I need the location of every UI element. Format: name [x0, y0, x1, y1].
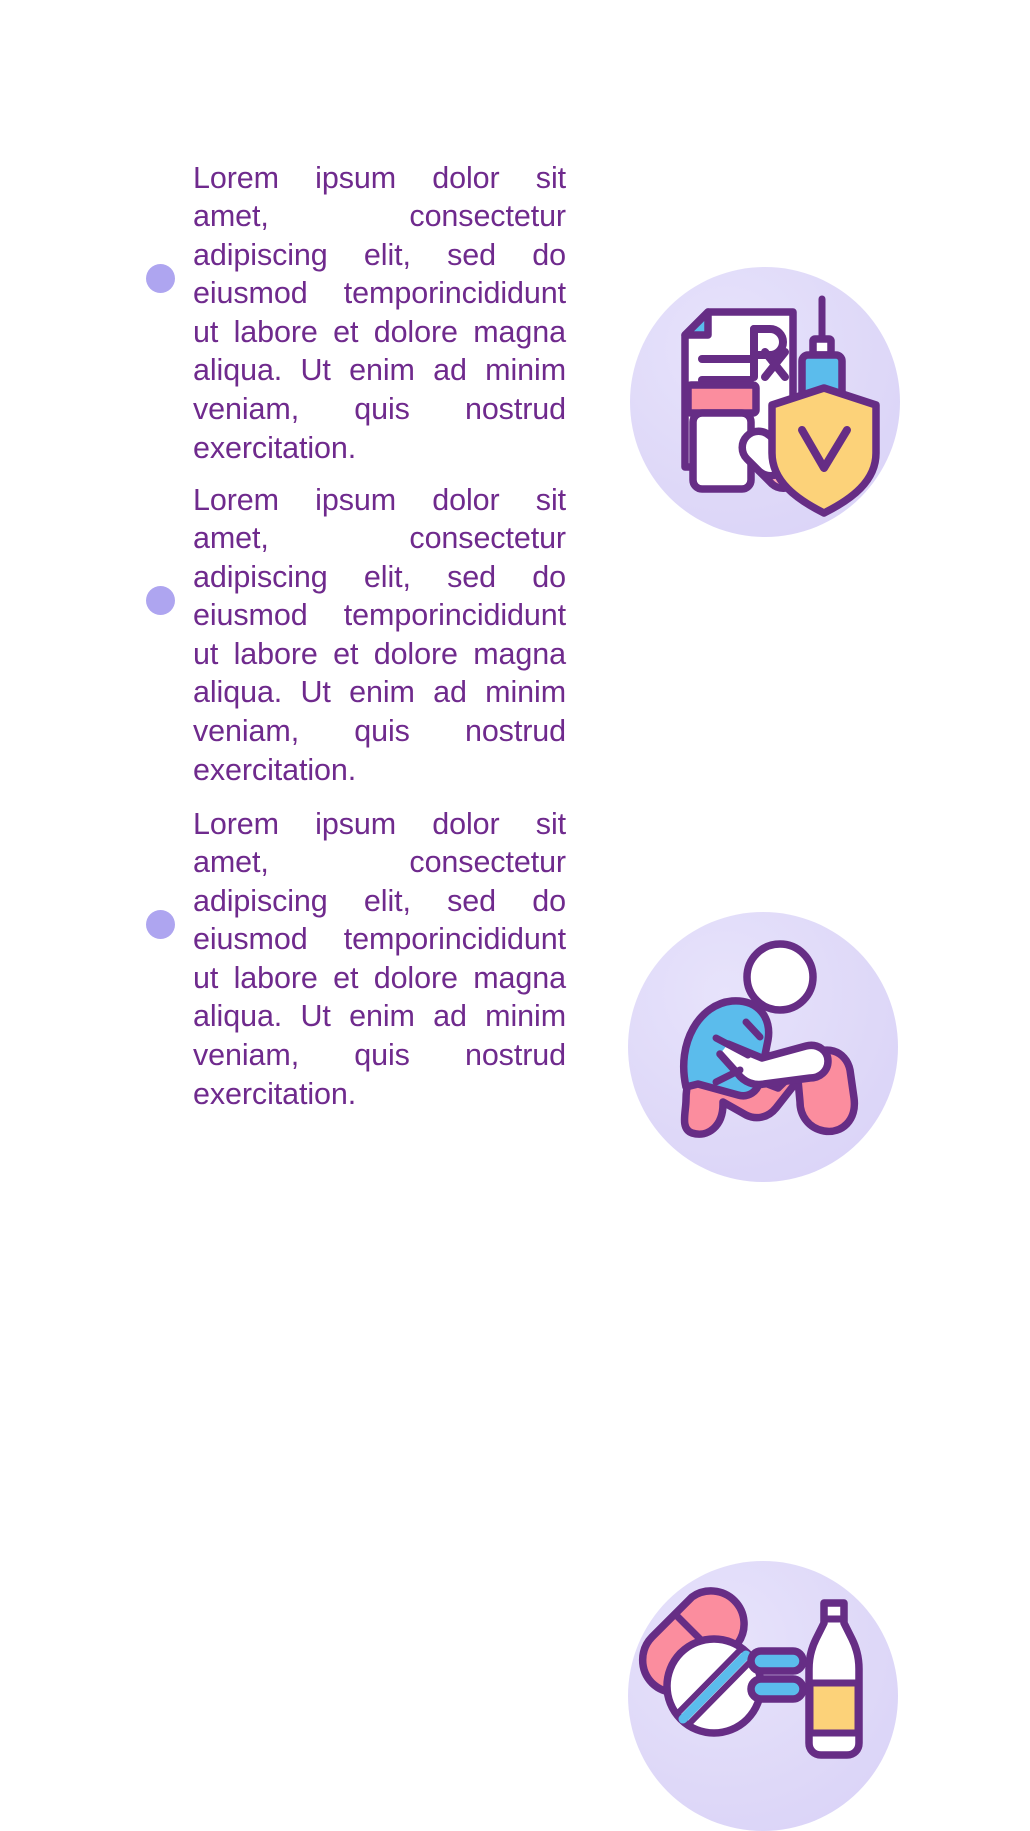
content-block-3: Lorem ipsum dolor sit amet, consectetur … — [0, 774, 1030, 1074]
bullet-dot-1 — [146, 264, 175, 293]
content-block-1: Lorem ipsum dolor sit amet, consectetur … — [0, 128, 1030, 428]
body-text-1: Lorem ipsum dolor sit amet, consectetur … — [193, 159, 566, 468]
bullet-dot-2 — [146, 586, 175, 615]
concept-page: Lorem ipsum dolor sit amet, consectetur … — [0, 0, 1030, 1200]
body-text-2: Lorem ipsum dolor sit amet, consectetur … — [193, 481, 566, 790]
icon-pills-equals-alcohol — [628, 1561, 898, 1831]
pills-equals-alcohol-icon — [628, 1561, 898, 1831]
bullet-dot-3 — [146, 910, 175, 939]
content-block-2: Lorem ipsum dolor sit amet, consectetur … — [0, 450, 1030, 750]
body-text-3: Lorem ipsum dolor sit amet, consectetur … — [193, 805, 566, 1114]
